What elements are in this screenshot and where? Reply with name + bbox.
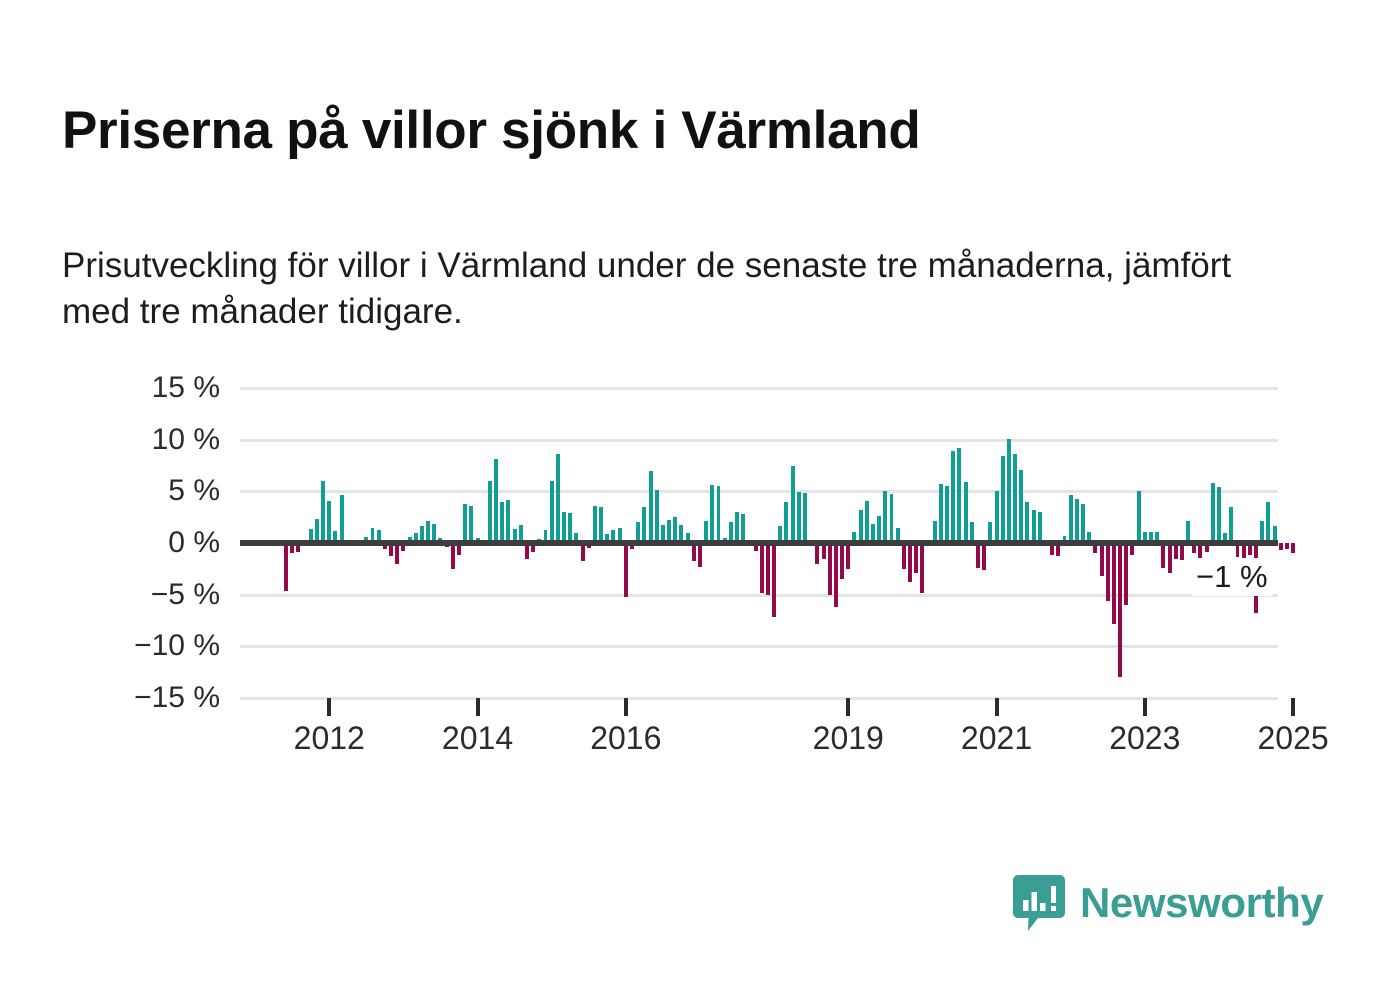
- bar: [1013, 454, 1017, 543]
- bar: [741, 514, 745, 543]
- zero-line: [240, 540, 1278, 546]
- bar: [840, 543, 844, 579]
- bar: [828, 543, 832, 595]
- bar: [834, 543, 838, 607]
- bar: [506, 500, 510, 543]
- bar: [494, 459, 498, 543]
- x-axis-tick-label: 2014: [442, 720, 513, 757]
- bar: [791, 466, 795, 544]
- bar: [1217, 487, 1221, 543]
- bar: [1161, 543, 1165, 568]
- bar: [395, 543, 399, 564]
- bar: [995, 491, 999, 543]
- bar: [883, 491, 887, 543]
- bar: [649, 471, 653, 543]
- bar: [1112, 543, 1116, 624]
- bar: [1069, 495, 1073, 543]
- bar: [760, 543, 764, 593]
- speech-bubble-bar-chart-icon: [1012, 874, 1066, 932]
- x-axis-tick-mark: [1291, 698, 1295, 716]
- y-axis-tick-label: −5 %: [20, 578, 220, 612]
- bar: [710, 485, 714, 543]
- bar: [797, 492, 801, 543]
- bar: [500, 502, 504, 543]
- bar: [945, 486, 949, 543]
- x-axis-tick-mark: [995, 698, 999, 716]
- bar: [865, 501, 869, 543]
- bar: [1279, 543, 1283, 550]
- bar: [1038, 512, 1042, 543]
- bar: [890, 494, 894, 543]
- bar: [908, 543, 912, 582]
- chart-page: Priserna på villor sjönk i Värmland Pris…: [0, 0, 1382, 999]
- bar: [340, 495, 344, 543]
- bar: [327, 501, 331, 543]
- bar: [951, 451, 955, 543]
- x-axis-tick-label: 2025: [1258, 720, 1329, 757]
- x-axis: 2012201420162019202120232025: [240, 698, 1278, 768]
- bar: [1137, 491, 1141, 543]
- bar: [469, 506, 473, 543]
- bar: [1032, 510, 1036, 543]
- y-axis-tick-label: −15 %: [20, 681, 220, 715]
- y-axis-tick-label: 0 %: [20, 526, 220, 560]
- x-axis-tick-label: 2023: [1109, 720, 1180, 757]
- bar: [1019, 470, 1023, 543]
- bar: [698, 543, 702, 567]
- bar: [488, 481, 492, 543]
- x-axis-tick-label: 2021: [961, 720, 1032, 757]
- bar: [815, 543, 819, 564]
- bar: [1025, 502, 1029, 543]
- bar-chart: 15 %10 %5 %0 %−5 %−10 %−15 % 20122014201…: [0, 0, 1382, 999]
- bar: [939, 484, 943, 543]
- bar: [1211, 483, 1215, 543]
- x-axis-tick-label: 2019: [813, 720, 884, 757]
- bar: [784, 502, 788, 543]
- x-axis-tick-mark: [327, 698, 331, 716]
- bar: [593, 506, 597, 543]
- bar: [550, 481, 554, 543]
- bar: [772, 543, 776, 617]
- bar: [599, 507, 603, 543]
- bar: [284, 543, 288, 591]
- bar: [1291, 543, 1295, 553]
- plot-area: [240, 388, 1278, 698]
- bar: [568, 513, 572, 543]
- bar: [562, 512, 566, 543]
- newsworthy-logo: Newsworthy: [1012, 874, 1323, 932]
- bar: [1118, 543, 1122, 677]
- y-axis-tick-label: −10 %: [20, 629, 220, 663]
- bar: [1266, 502, 1270, 543]
- bar: [766, 543, 770, 595]
- last-value-annotation: −1 %: [1192, 558, 1272, 596]
- bar: [902, 543, 906, 569]
- bar: [1081, 504, 1085, 543]
- bar: [1124, 543, 1128, 605]
- x-axis-tick-mark: [1143, 698, 1147, 716]
- bar: [976, 543, 980, 568]
- y-axis-tick-label: 5 %: [20, 474, 220, 508]
- x-axis-tick-mark: [476, 698, 480, 716]
- bar: [556, 454, 560, 543]
- x-axis-tick-label: 2012: [294, 720, 365, 757]
- bar: [1100, 543, 1104, 576]
- bar: [642, 507, 646, 543]
- bar: [914, 543, 918, 573]
- x-axis-tick-mark: [846, 698, 850, 716]
- bar: [1007, 439, 1011, 543]
- bar: [1075, 499, 1079, 543]
- x-axis-tick-label: 2016: [590, 720, 661, 757]
- y-axis-tick-label: 10 %: [20, 423, 220, 457]
- bar: [920, 543, 924, 593]
- bar: [982, 543, 986, 570]
- bar: [859, 510, 863, 543]
- bar: [846, 543, 850, 569]
- bar: [624, 543, 628, 597]
- y-axis-tick-label: 15 %: [20, 371, 220, 405]
- bar: [655, 490, 659, 543]
- logo-wordmark: Newsworthy: [1080, 882, 1323, 924]
- bar: [1168, 543, 1172, 573]
- bar: [957, 448, 961, 543]
- bar: [463, 504, 467, 543]
- bar: [451, 543, 455, 569]
- bar: [1229, 507, 1233, 543]
- bar: [1001, 456, 1005, 543]
- bar: [1285, 543, 1289, 549]
- bar: [1106, 543, 1110, 601]
- x-axis-tick-mark: [624, 698, 628, 716]
- bar: [717, 486, 721, 543]
- bar: [803, 493, 807, 543]
- bar: [964, 482, 968, 543]
- bar: [877, 516, 881, 543]
- bar: [735, 512, 739, 543]
- bar: [321, 481, 325, 543]
